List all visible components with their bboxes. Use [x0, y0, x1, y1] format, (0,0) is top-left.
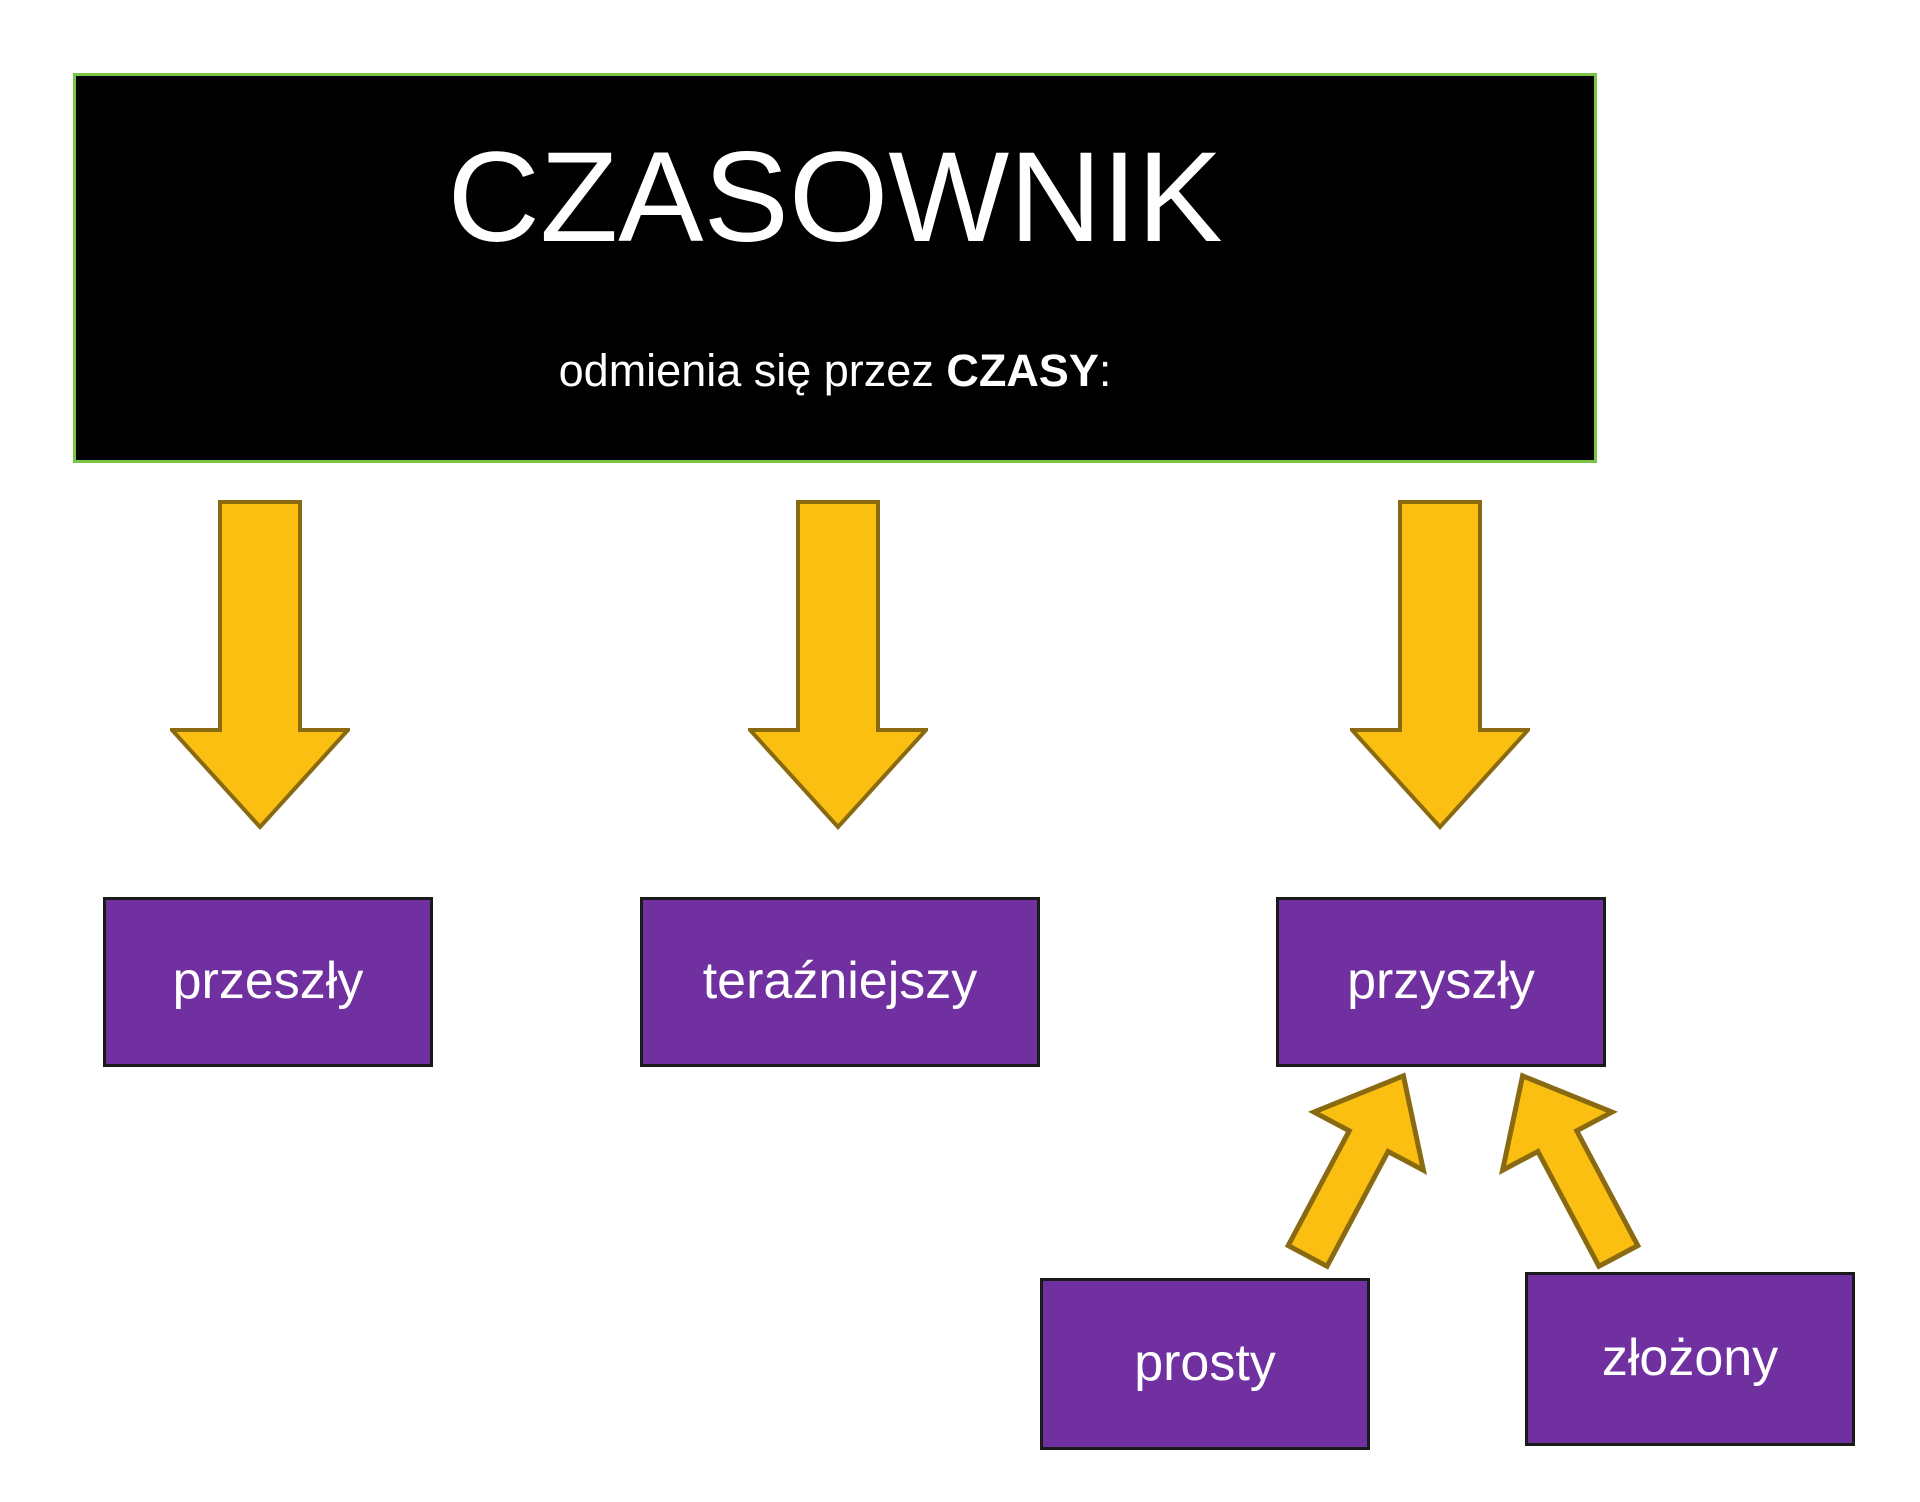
future-subtype-label-simple: prosty	[1134, 1335, 1276, 1392]
arrow-down-left-icon	[1256, 1060, 1456, 1270]
arrow-down-icon	[1350, 500, 1530, 830]
title-banner: CZASOWNIK odmienia się przez CZASY:	[73, 73, 1597, 463]
tense-box-past[interactable]: przeszły	[103, 897, 433, 1067]
future-subtype-label-compound: złożony	[1602, 1330, 1778, 1387]
future-subtype-box-compound[interactable]: złożony	[1525, 1272, 1855, 1446]
page-title: CZASOWNIK	[447, 134, 1222, 262]
tense-label-present: teraźniejszy	[703, 953, 978, 1010]
subtitle-suffix: :	[1099, 345, 1112, 396]
subtitle-emphasis: CZASY	[946, 345, 1099, 396]
arrow-down-right-icon	[1470, 1060, 1670, 1270]
arrow-down-icon	[170, 500, 350, 830]
subtitle-prefix: odmienia się przez	[559, 345, 947, 396]
tense-label-future: przyszły	[1347, 953, 1535, 1010]
future-subtype-box-simple[interactable]: prosty	[1040, 1278, 1370, 1450]
tense-label-past: przeszły	[173, 953, 364, 1010]
title-subtitle: odmienia się przez CZASY:	[559, 348, 1112, 393]
slide-canvas: CZASOWNIK odmienia się przez CZASY: prze…	[0, 0, 1920, 1502]
tense-box-future[interactable]: przyszły	[1276, 897, 1606, 1067]
arrow-down-icon	[748, 500, 928, 830]
tense-box-present[interactable]: teraźniejszy	[640, 897, 1040, 1067]
